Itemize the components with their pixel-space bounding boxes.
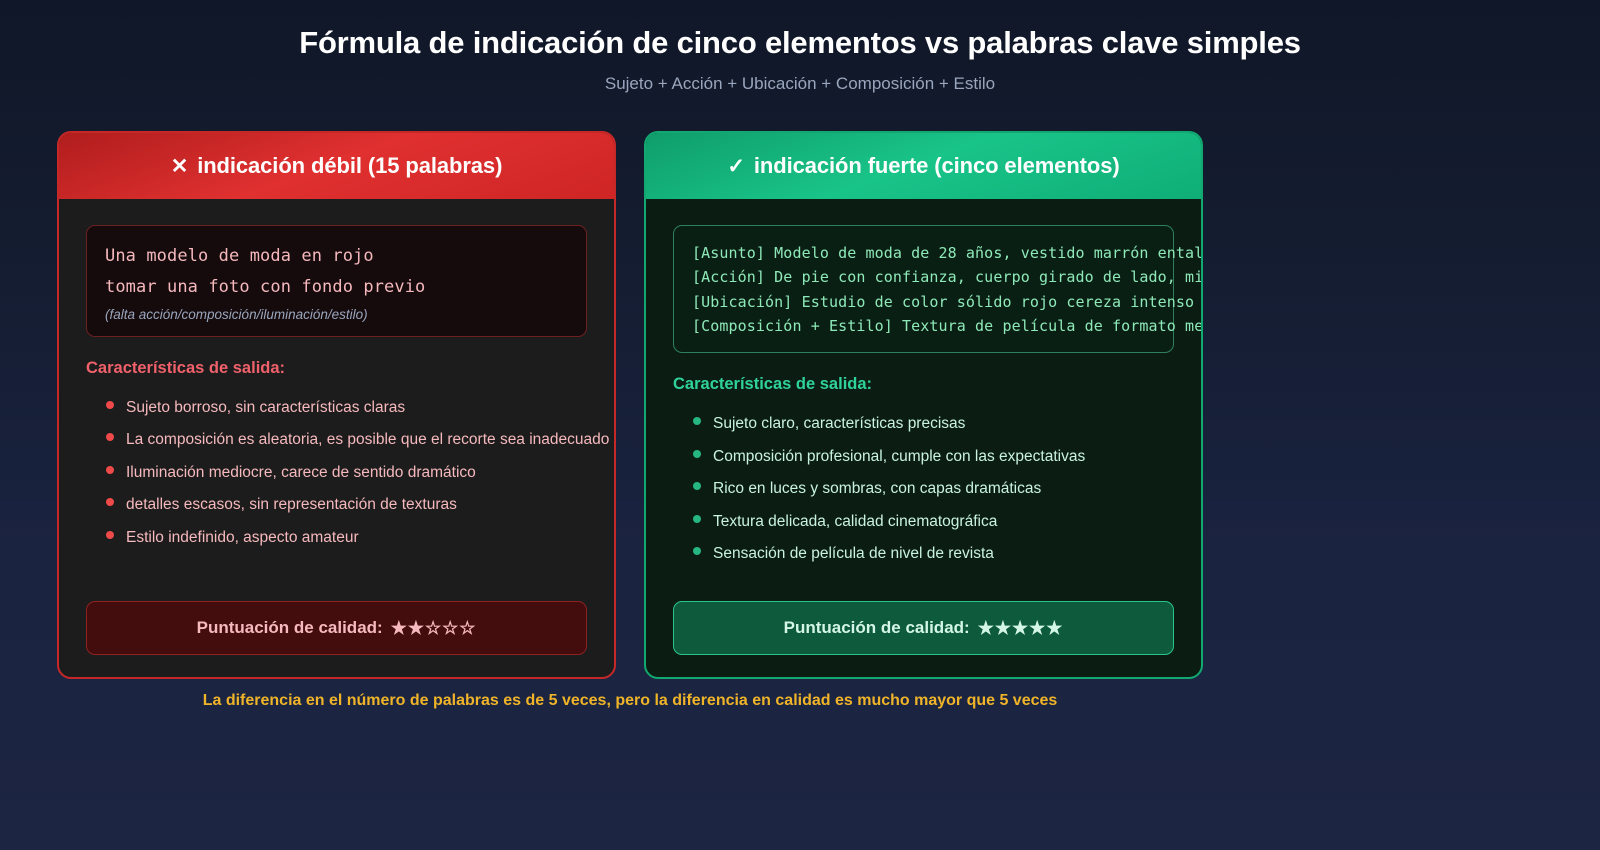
weak-card-title: indicación débil (15 palabras) — [197, 153, 502, 179]
score-label: Puntuación de calidad: — [784, 618, 970, 638]
comparison-cards: ✕ indicación débil (15 palabras) Una mod… — [57, 131, 1203, 679]
weak-prompt-note: (falta acción/composición/iluminación/es… — [105, 307, 568, 322]
prompt-line: Una modelo de moda en rojo — [105, 241, 568, 272]
list-item: Textura delicada, calidad cinematográfic… — [673, 508, 1175, 541]
strong-prompt-box: [Asunto] Modelo de moda de 28 años, vest… — [673, 225, 1174, 353]
strong-card-header: ✓ indicación fuerte (cinco elementos) — [646, 133, 1201, 199]
strong-features-list: Sujeto claro, características precisas C… — [673, 410, 1175, 573]
bullet-icon — [693, 417, 701, 425]
list-item-label: detalles escasos, sin representación de … — [126, 497, 457, 513]
prompt-line: [Ubicación] Estudio de color sólido rojo… — [692, 290, 1155, 314]
strong-features-title: Características de salida: — [673, 375, 1175, 394]
bullet-icon — [106, 498, 114, 506]
bullet-icon — [106, 401, 114, 409]
prompt-line: [Composición + Estilo] Textura de pelícu… — [692, 314, 1155, 338]
check-icon: ✓ — [727, 156, 745, 177]
bullet-icon — [693, 515, 701, 523]
list-item-label: Composición profesional, cumple con las … — [713, 449, 1085, 465]
bullet-icon — [106, 466, 114, 474]
list-item-label: Iluminación mediocre, carece de sentido … — [126, 465, 476, 481]
strong-prompt-card: ✓ indicación fuerte (cinco elementos) [A… — [644, 131, 1203, 679]
strong-card-title: indicación fuerte (cinco elementos) — [754, 153, 1120, 179]
strong-quality-score: Puntuación de calidad: ★★★★★ — [673, 601, 1174, 655]
weak-card-body: Una modelo de moda en rojo tomar una fot… — [59, 199, 614, 677]
weak-prompt-card: ✕ indicación débil (15 palabras) Una mod… — [57, 131, 616, 679]
list-item-label: Estilo indefinido, aspecto amateur — [126, 530, 359, 546]
star-rating-icon: ★★☆☆☆ — [391, 618, 477, 639]
prompt-line: [Asunto] Modelo de moda de 28 años, vest… — [692, 241, 1155, 265]
page-header: Fórmula de indicación de cinco elementos… — [0, 0, 1600, 94]
list-item-label: Sensación de película de nivel de revist… — [713, 546, 994, 562]
list-item-label: Rico en luces y sombras, con capas dramá… — [713, 481, 1041, 497]
list-item: La composición es aleatoria, es posible … — [86, 426, 588, 459]
score-label: Puntuación de calidad: — [197, 618, 383, 638]
weak-prompt-box: Una modelo de moda en rojo tomar una fot… — [86, 225, 587, 337]
star-rating-icon: ★★★★★ — [978, 618, 1064, 639]
list-item-label: La composición es aleatoria, es posible … — [126, 432, 609, 448]
page-title: Fórmula de indicación de cinco elementos… — [0, 24, 1600, 63]
weak-quality-score: Puntuación de calidad: ★★☆☆☆ — [86, 601, 587, 655]
list-item: Sensación de película de nivel de revist… — [673, 540, 1175, 573]
list-item-label: Textura delicada, calidad cinematográfic… — [713, 514, 997, 530]
bullet-icon — [693, 482, 701, 490]
page-subtitle: Sujeto + Acción + Ubicación + Composició… — [0, 74, 1600, 94]
bullet-icon — [693, 547, 701, 555]
weak-card-header: ✕ indicación débil (15 palabras) — [59, 133, 614, 199]
prompt-line: tomar una foto con fondo previo — [105, 272, 568, 303]
list-item-label: Sujeto claro, características precisas — [713, 416, 965, 432]
list-item: Sujeto claro, características precisas — [673, 410, 1175, 443]
list-item: Sujeto borroso, sin características clar… — [86, 394, 588, 427]
list-item: detalles escasos, sin representación de … — [86, 491, 588, 524]
footer-note: La diferencia en el número de palabras e… — [0, 692, 1260, 710]
prompt-line: [Acción] De pie con confianza, cuerpo gi… — [692, 265, 1155, 289]
list-item: Composición profesional, cumple con las … — [673, 443, 1175, 476]
cross-icon: ✕ — [171, 156, 189, 177]
bullet-icon — [106, 433, 114, 441]
weak-features-list: Sujeto borroso, sin características clar… — [86, 394, 588, 557]
list-item-label: Sujeto borroso, sin características clar… — [126, 400, 405, 416]
list-item: Rico en luces y sombras, con capas dramá… — [673, 475, 1175, 508]
list-item: Iluminación mediocre, carece de sentido … — [86, 459, 588, 492]
list-item: Estilo indefinido, aspecto amateur — [86, 524, 588, 557]
bullet-icon — [693, 450, 701, 458]
strong-card-body: [Asunto] Modelo de moda de 28 años, vest… — [646, 199, 1201, 677]
weak-features-title: Características de salida: — [86, 359, 588, 378]
bullet-icon — [106, 531, 114, 539]
comparison-infographic: Fórmula de indicación de cinco elementos… — [0, 0, 1600, 850]
